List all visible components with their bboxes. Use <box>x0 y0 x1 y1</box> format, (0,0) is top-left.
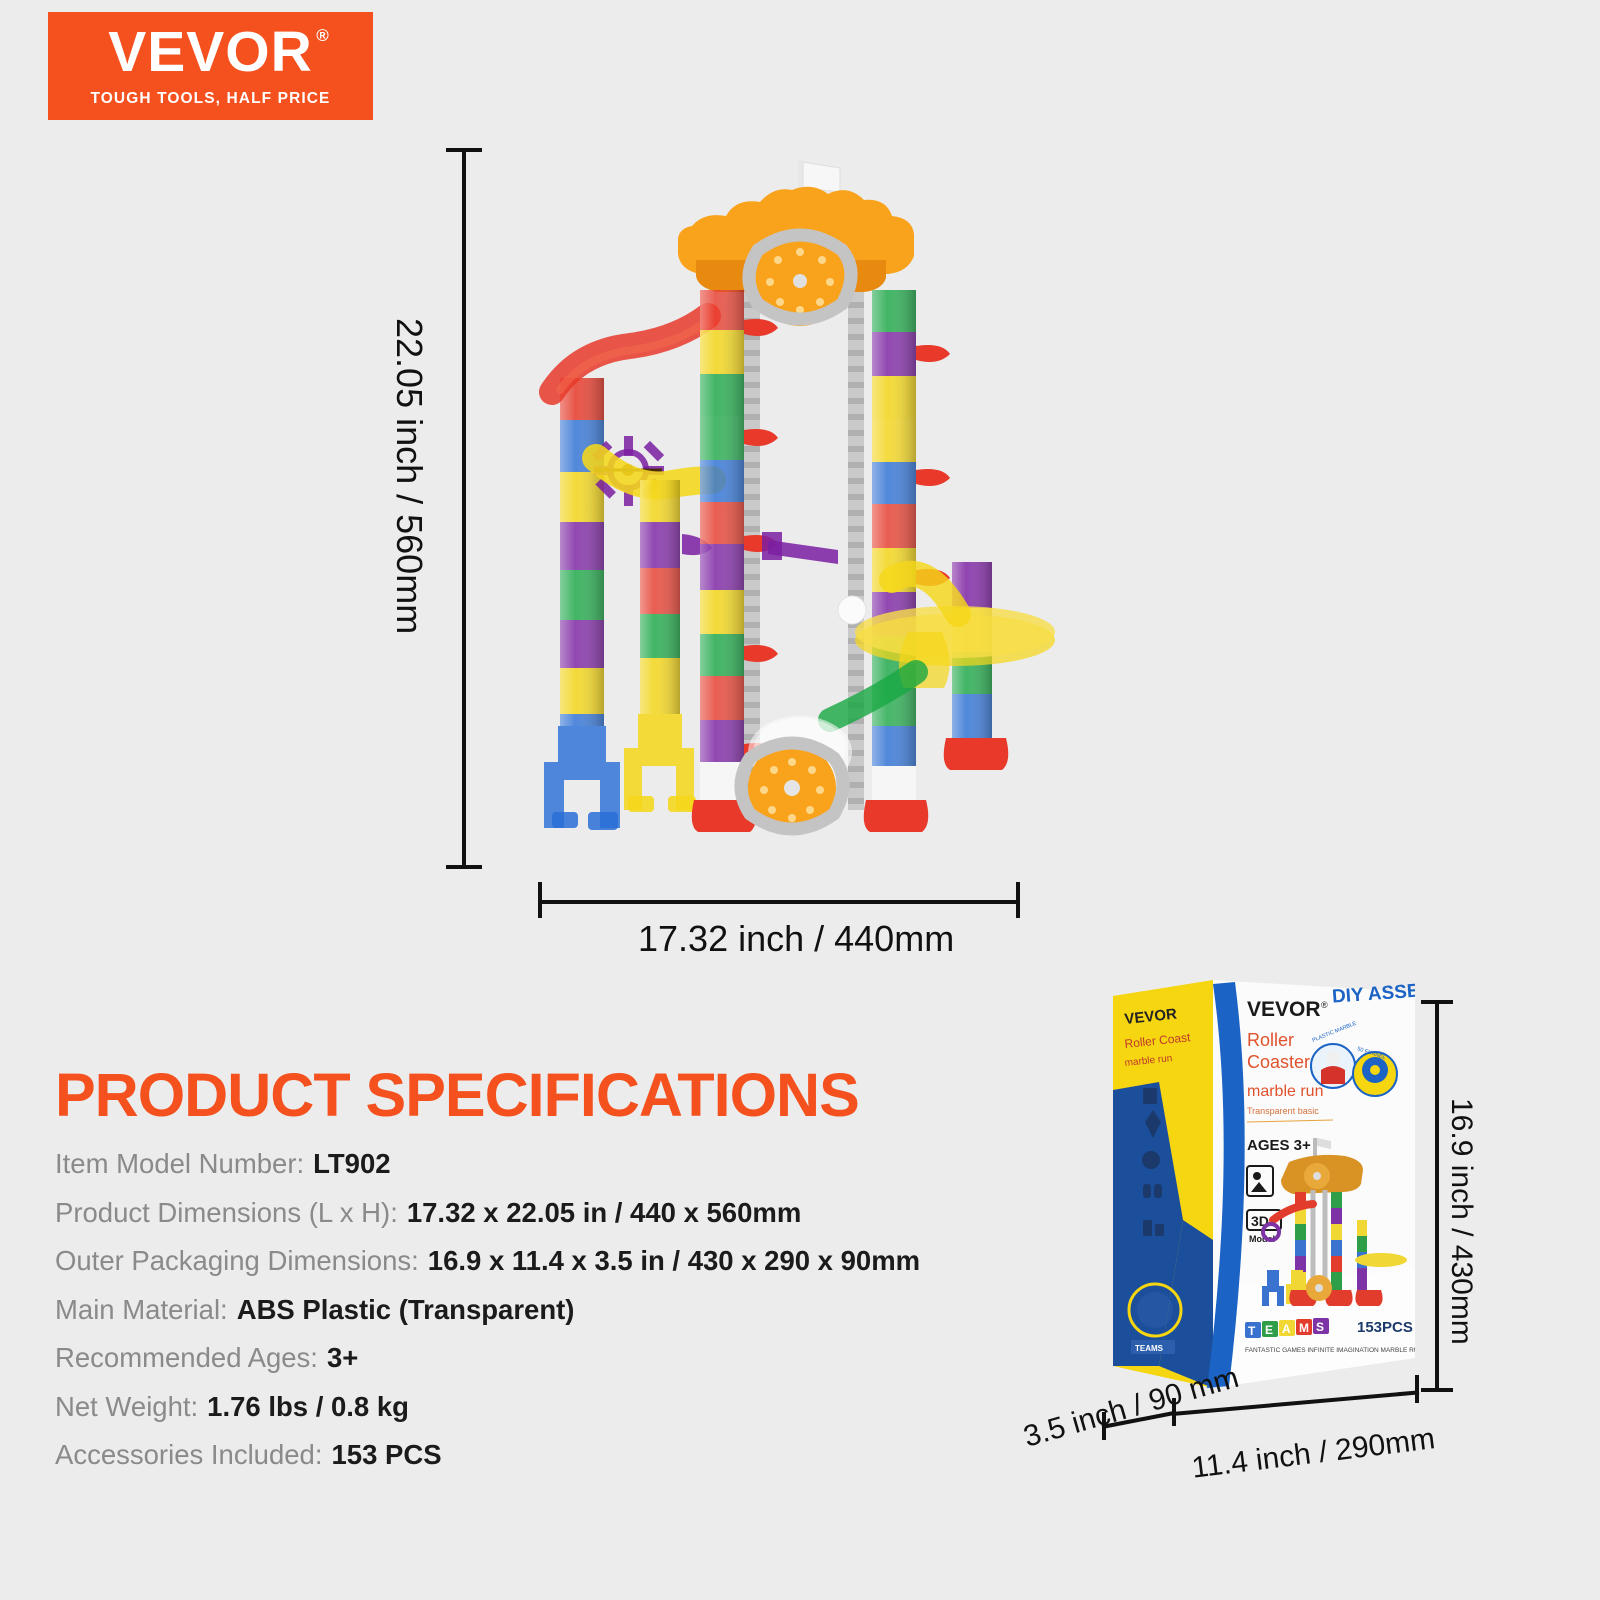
front-title-1: Roller <box>1247 1030 1294 1050</box>
spec-value: LT902 <box>313 1148 390 1180</box>
spec-value: 1.76 lbs / 0.8 kg <box>207 1391 409 1423</box>
svg-text:S: S <box>1316 1320 1324 1334</box>
pkg-height-line <box>1435 1000 1439 1392</box>
spine-teams-badge: TEAMS <box>1131 1340 1175 1354</box>
spec-label: Main Material: <box>55 1294 228 1326</box>
front-brand: VEVOR <box>1247 998 1321 1021</box>
vevor-logo: VEVOR® TOUGH TOOLS, HALF PRICE <box>48 12 373 120</box>
spec-label: Product Dimensions (L x H): <box>55 1197 398 1229</box>
box-bottom-tagline: FANTASTIC GAMES INFINITE IMAGINATION MAR… <box>1245 1347 1415 1354</box>
brand-tagline: TOUGH TOOLS, HALF PRICE <box>90 90 330 108</box>
front-ages: AGES 3+ <box>1247 1137 1311 1154</box>
spec-value: 17.32 x 22.05 in / 440 x 560mm <box>407 1197 801 1229</box>
spec-label: Recommended Ages: <box>55 1342 318 1374</box>
spec-row-accessories: Accessories Included: 153 PCS <box>55 1439 995 1471</box>
package-width-label: 11.4 inch / 290mm <box>1190 1422 1437 1486</box>
svg-text:TEAMS: TEAMS <box>1135 1344 1164 1353</box>
product-width-label: 17.32 inch / 440mm <box>638 918 954 960</box>
purple-connector <box>762 532 838 564</box>
specifications-list: Item Model Number: LT902 Product Dimensi… <box>55 1148 995 1488</box>
product-illustration <box>500 140 1060 870</box>
height-cap-bottom <box>446 865 482 869</box>
front-note: Transparent basic <box>1247 1106 1319 1116</box>
package-height-label: 16.9 inch / 430mm <box>1444 1098 1478 1345</box>
product-height-label: 22.05 inch / 560mm <box>388 318 430 634</box>
svg-text:A: A <box>1282 1322 1291 1336</box>
spec-row-product-dimensions: Product Dimensions (L x H): 17.32 x 22.0… <box>55 1197 995 1229</box>
pkg-width-cap-right <box>1415 1375 1419 1403</box>
base-fork-yellow <box>624 714 694 810</box>
box-piece-count: 153PCS <box>1357 1319 1413 1336</box>
product-spec-page: VEVOR® TOUGH TOOLS, HALF PRICE <box>0 0 1600 1600</box>
spec-value: 16.9 x 11.4 x 3.5 in / 430 x 290 x 90mm <box>428 1245 920 1277</box>
spec-label: Net Weight: <box>55 1391 198 1423</box>
red-chute <box>552 316 708 392</box>
spec-value: 153 PCS <box>332 1439 442 1471</box>
front-registered: ® <box>1321 1000 1328 1010</box>
tower-second <box>624 480 712 812</box>
svg-text:M: M <box>1299 1321 1309 1335</box>
white-marble <box>838 596 866 624</box>
spec-label: Accessories Included: <box>55 1439 323 1471</box>
spec-label: Item Model Number: <box>55 1148 304 1180</box>
package-illustration: VEVOR Roller Coast marble run VEVOR ® Ro… <box>1095 970 1415 1410</box>
height-line <box>462 148 466 869</box>
base-red-right <box>864 800 929 832</box>
spec-row-model: Item Model Number: LT902 <box>55 1148 995 1180</box>
spec-row-ages: Recommended Ages: 3+ <box>55 1342 995 1374</box>
width-cap-right <box>1016 882 1020 918</box>
brand-name-text: VEVOR <box>108 20 313 84</box>
spec-label: Outer Packaging Dimensions: <box>55 1245 419 1277</box>
spec-row-packaging-dimensions: Outer Packaging Dimensions: 16.9 x 11.4 … <box>55 1245 995 1277</box>
spec-value: ABS Plastic (Transparent) <box>237 1294 575 1326</box>
registered-mark: ® <box>316 27 330 44</box>
pkg-height-cap-bottom <box>1421 1388 1453 1392</box>
page-title: PRODUCT SPECIFICATIONS <box>55 1060 859 1130</box>
front-title-2: Coaster <box>1247 1052 1310 1072</box>
front-subtitle: marble run <box>1247 1083 1323 1100</box>
brand-name: VEVOR® <box>108 24 313 81</box>
spec-row-weight: Net Weight: 1.76 lbs / 0.8 kg <box>55 1391 995 1423</box>
svg-text:E: E <box>1265 1323 1273 1337</box>
svg-text:T: T <box>1248 1324 1256 1338</box>
width-line <box>538 900 1020 904</box>
spec-row-material: Main Material: ABS Plastic (Transparent) <box>55 1294 995 1326</box>
base-red-far-right <box>944 738 1009 770</box>
spec-value: 3+ <box>327 1342 358 1374</box>
